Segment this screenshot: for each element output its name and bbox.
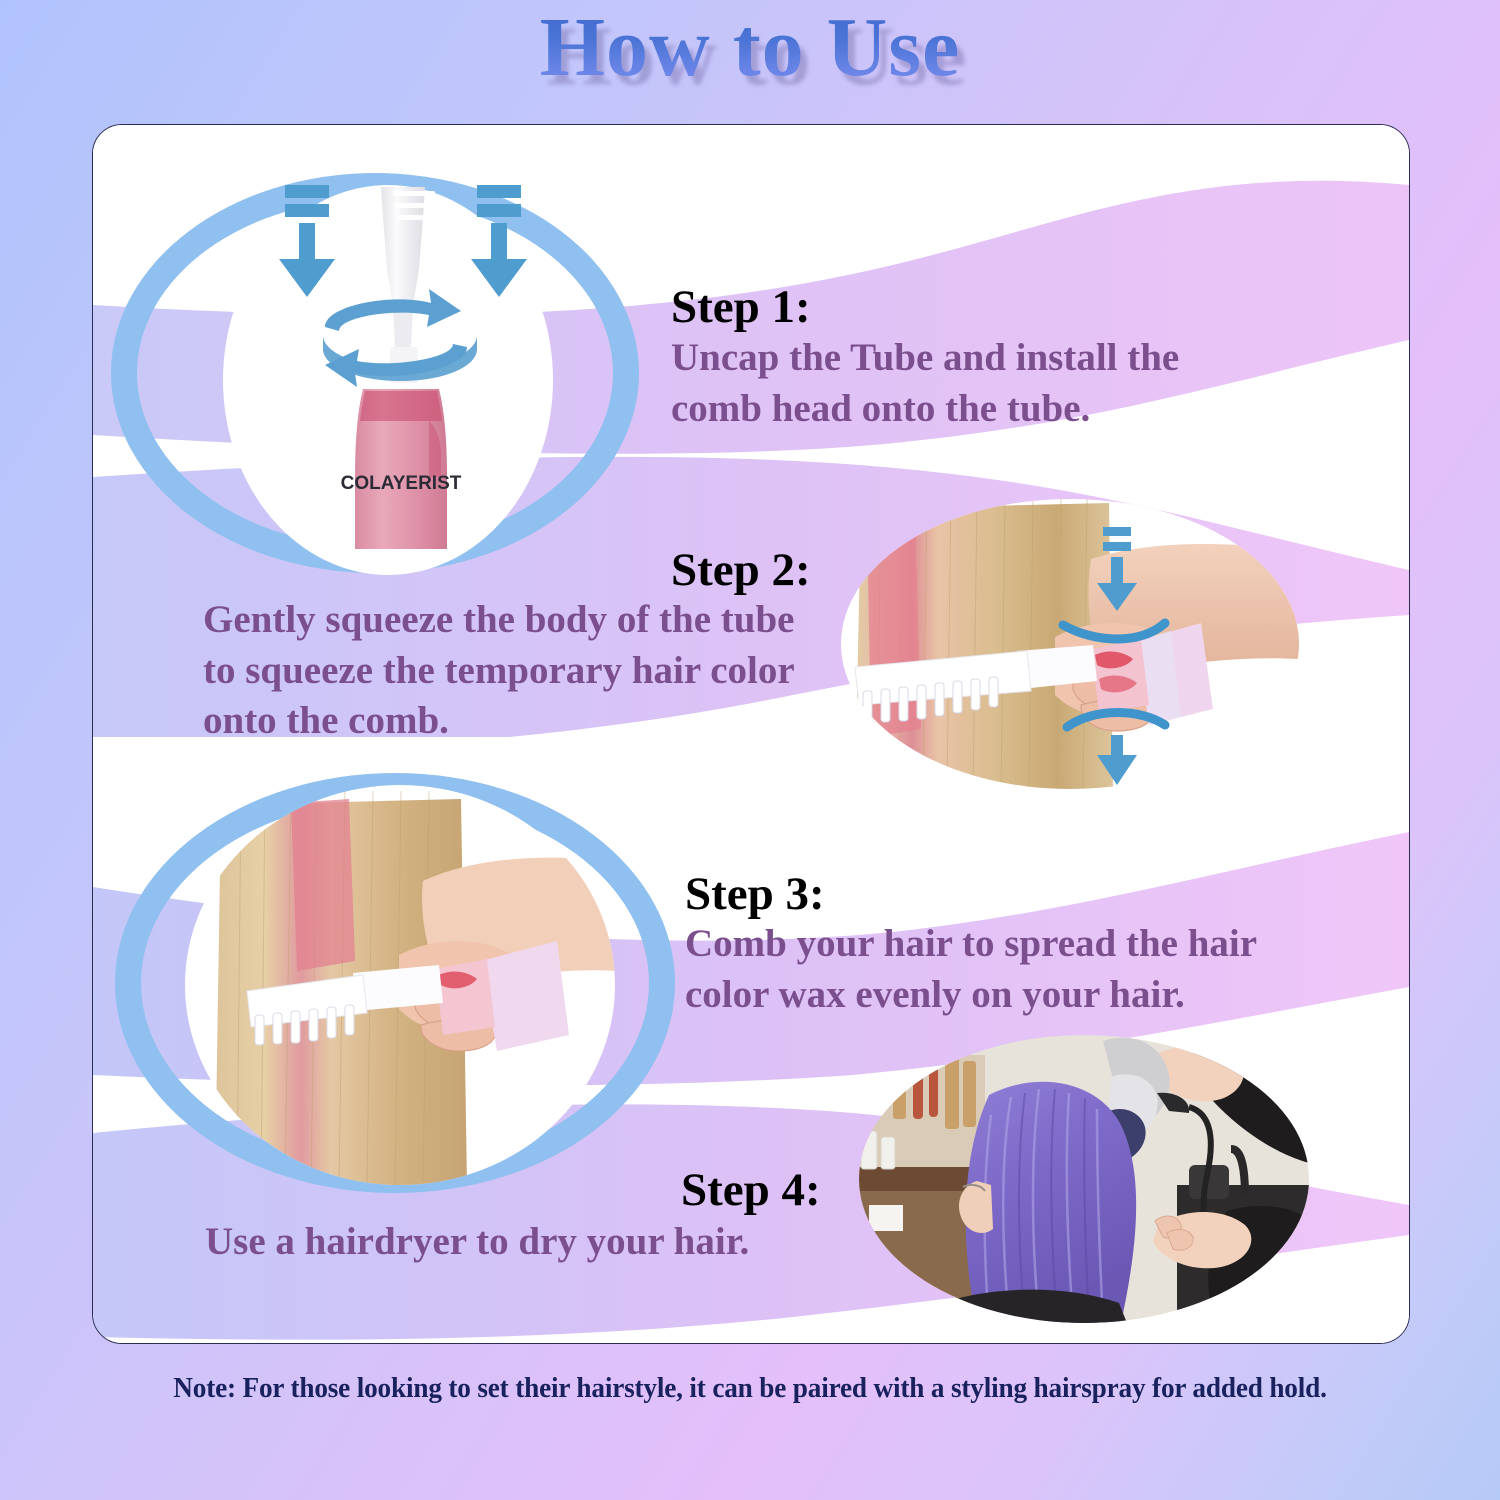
step-2-body: Gently squeeze the body of the tube to s… (203, 595, 835, 747)
step-3-heading: Step 3: (685, 867, 825, 921)
step-4-heading: Step 4: (681, 1163, 821, 1217)
step-1-body: Uncap the Tube and install the comb head… (671, 333, 1271, 434)
footer-note: Note: For those looking to set their hai… (45, 1372, 1455, 1405)
comb-head-install-diagram: COLAYERIST (243, 177, 563, 577)
squeezing-tube-onto-comb-photo (841, 499, 1299, 789)
combing-hair-photo (185, 785, 615, 1185)
step-1-heading: Step 1: (671, 280, 811, 334)
infographic-root: How to Use (0, 0, 1500, 1500)
step-4-body: Use a hairdryer to dry your hair. (205, 1217, 905, 1268)
tube-brand-label: COLAYERIST (341, 473, 462, 494)
step-3-body: Comb your hair to spread the hair color … (685, 919, 1285, 1020)
step-2-heading: Step 2: (671, 543, 811, 597)
blow-drying-purple-hair-photo (859, 1035, 1309, 1323)
instructions-card: COLAYERIST Step 1: Uncap the Tube and in… (92, 124, 1410, 1344)
page-title: How to Use (0, 6, 1500, 90)
